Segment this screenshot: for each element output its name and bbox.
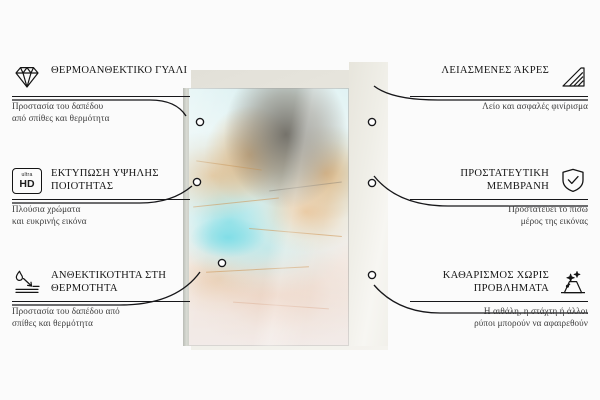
feature-heat-durability: ΑΝΘΕΚΤΙΚΟΤΗΤΑ ΣΤΗ ΘΕΡΜΟΤΗΤΑ Προστασία το… — [12, 268, 190, 329]
feature-title: ΛΕΙΑΣΜΕΝΕΣ ΆΚΡΕΣ — [441, 63, 549, 77]
feature-title: ΚΑΘΑΡΙΣΜΟΣ ΧΩΡΙΣ ΠΡΟΒΛΗΜΑΤΑ — [410, 268, 549, 296]
feature-header: ΑΝΘΕΚΤΙΚΟΤΗΤΑ ΣΤΗ ΘΕΡΜΟΤΗΤΑ — [12, 268, 190, 296]
feature-divider — [12, 199, 190, 200]
feature-divider — [12, 96, 190, 97]
feature-high-quality-print: ultra HD ΕΚΤΥΠΩΣΗ ΥΨΗΛΗΣ ΠΟΙΟΤΗΤΑΣ Πλούσ… — [12, 166, 190, 227]
ultra-hd-badge-hd-text: HD — [19, 179, 34, 190]
sparkle-cleaning-icon — [558, 268, 588, 296]
feature-header: ΠΡΟΣΤΑΤΕΥΤΙΚΗ ΜΕΜΒΡΑΝΗ — [410, 166, 588, 194]
feature-header: ΛΕΙΑΣΜΕΝΕΣ ΆΚΡΕΣ — [410, 63, 588, 91]
feature-header: ultra HD ΕΚΤΥΠΩΣΗ ΥΨΗΛΗΣ ΠΟΙΟΤΗΤΑΣ — [12, 166, 190, 194]
polished-edges-icon — [558, 63, 588, 91]
feature-divider — [410, 199, 588, 200]
feature-divider — [410, 301, 588, 302]
feature-protective-membrane: ΠΡΟΣΤΑΤΕΥΤΙΚΗ ΜΕΜΒΡΑΝΗ Προστατεύει το πί… — [410, 166, 588, 227]
feature-easy-cleaning: ΚΑΘΑΡΙΣΜΟΣ ΧΩΡΙΣ ΠΡΟΒΛΗΜΑΤΑ Η αιθάλη, η … — [410, 268, 588, 329]
feature-polished-edges: ΛΕΙΑΣΜΕΝΕΣ ΆΚΡΕΣ Λείο και ασφαλές φινίρι… — [410, 63, 588, 113]
feature-description: Προστατεύει το πίσωμέρος της εικόνας — [410, 204, 588, 227]
feature-description: Λείο και ασφαλές φινίρισμα — [410, 101, 588, 113]
diamond-icon — [12, 63, 42, 91]
shield-check-icon — [558, 166, 588, 194]
feature-divider — [410, 96, 588, 97]
infographic-canvas: ΘΕΡΜΟΑΝΘΕΚΤΙΚΟ ΓΥΑΛΙ Προστασία του δαπέδ… — [0, 0, 600, 400]
feature-title: ΕΚΤΥΠΩΣΗ ΥΨΗΛΗΣ ΠΟΙΟΤΗΤΑΣ — [51, 166, 190, 194]
feature-heat-resistant-glass: ΘΕΡΜΟΑΝΘΕΚΤΙΚΟ ΓΥΑΛΙ Προστασία του δαπέδ… — [12, 63, 190, 124]
feature-description: Η αιθάλη, η στάχτη ή άλλοιρύποι μπορούν … — [410, 306, 588, 329]
ultra-hd-badge-icon: ultra HD — [12, 168, 42, 194]
feature-description: Πλούσια χρώματακαι ευκρινής εικόνα — [12, 204, 190, 227]
feature-title: ΑΝΘΕΚΤΙΚΟΤΗΤΑ ΣΤΗ ΘΕΡΜΟΤΗΤΑ — [51, 268, 190, 296]
feature-divider — [12, 301, 190, 302]
feature-header: ΘΕΡΜΟΑΝΘΕΚΤΙΚΟ ΓΥΑΛΙ — [12, 63, 190, 91]
feature-title: ΠΡΟΣΤΑΤΕΥΤΙΚΗ ΜΕΜΒΡΑΝΗ — [410, 166, 549, 194]
feature-title: ΘΕΡΜΟΑΝΘΕΚΤΙΚΟ ΓΥΑΛΙ — [51, 63, 187, 77]
feature-header: ΚΑΘΑΡΙΣΜΟΣ ΧΩΡΙΣ ΠΡΟΒΛΗΜΑΤΑ — [410, 268, 588, 296]
heat-resistance-icon — [12, 268, 42, 296]
feature-description: Προστασία του δαπέδουαπό σπίθες και θερμ… — [12, 101, 190, 124]
feature-description: Προστασία του δαπέδου απόσπίθες και θερμ… — [12, 306, 190, 329]
